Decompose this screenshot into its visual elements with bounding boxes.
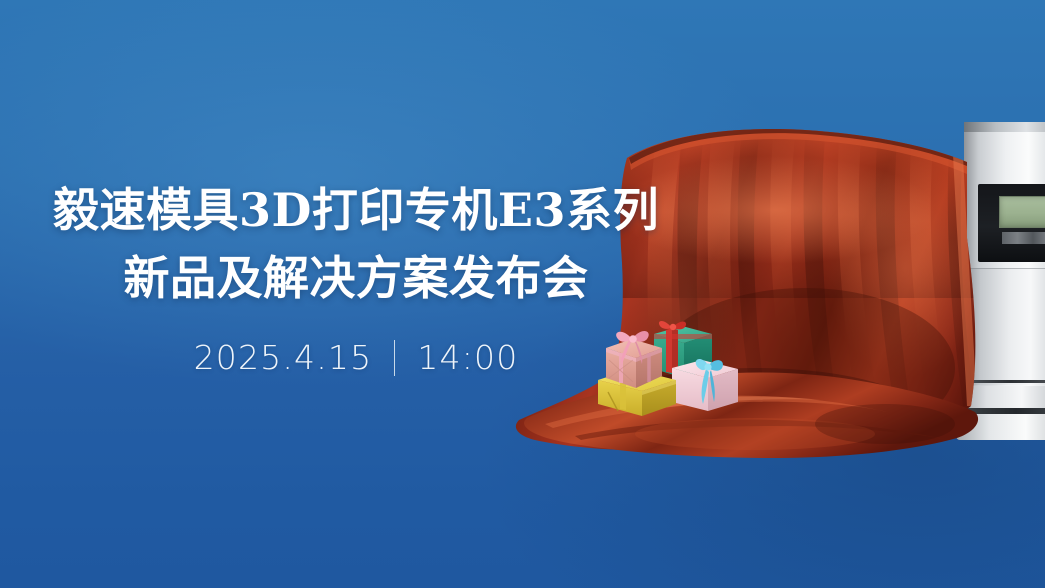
launch-banner: 毅速模具3D打印专机E3系列 新品及解决方案发布会 2025.4.15 14:0… (0, 0, 1045, 588)
meta-divider (394, 340, 395, 376)
page-title-line-2: 新品及解决方案发布会 (0, 244, 712, 312)
page-title-line-1: 毅速模具3D打印专机E3系列 (0, 176, 712, 244)
headline-block: 毅速模具3D打印专机E3系列 新品及解决方案发布会 2025.4.15 14:0… (0, 176, 712, 377)
event-date: 2025.4.15 (194, 338, 373, 377)
event-meta: 2025.4.15 14:00 (0, 338, 712, 377)
event-time: 14:00 (417, 338, 518, 377)
